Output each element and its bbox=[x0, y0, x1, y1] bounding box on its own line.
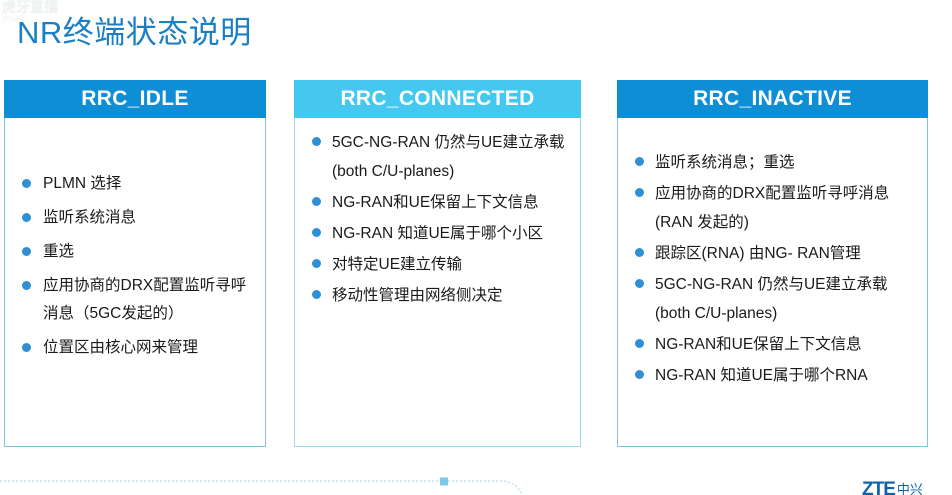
list-item: 5GC‐NG-RAN 仍然与UE建立承载 (both C/U-planes) bbox=[303, 128, 574, 186]
column-body-rrc-idle: PLMN 选择 监听系统消息 重选 应用协商的DRX配置监听寻呼消息（5GC发起… bbox=[4, 118, 266, 447]
list-item: 跟踪区(RNA) 由NG- RAN管理 bbox=[626, 239, 921, 268]
list-item: 应用协商的DRX配置监听寻呼消息(RAN 发起的) bbox=[626, 179, 921, 237]
bullet-list-rrc-idle: PLMN 选择 监听系统消息 重选 应用协商的DRX配置监听寻呼消息（5GC发起… bbox=[13, 170, 259, 362]
list-item: NG-RAN 知道UE属于哪个小区 bbox=[303, 219, 574, 248]
column-body-rrc-inactive: 监听系统消息；重选 应用协商的DRX配置监听寻呼消息(RAN 发起的) 跟踪区(… bbox=[617, 118, 928, 447]
column-header-rrc-connected: RRC_CONNECTED bbox=[294, 80, 581, 118]
decorative-curve bbox=[0, 462, 952, 495]
zte-logo-mark: ZTE bbox=[862, 480, 895, 495]
page-title: NR终端状态说明 bbox=[17, 7, 252, 52]
zte-logo-cn: 中兴 bbox=[897, 482, 923, 495]
list-item: 重选 bbox=[13, 238, 259, 266]
zte-logo: ZTE中兴 bbox=[862, 480, 952, 495]
slide-canvas: 虎牙直播 房间号 NR终端状态说明 RRC_IDLE PLMN 选择 监听系统消… bbox=[0, 0, 952, 495]
list-item: 监听系统消息；重选 bbox=[626, 148, 921, 177]
list-item: NG-RAN和UE保留上下文信息 bbox=[626, 330, 921, 359]
column-header-rrc-inactive: RRC_INACTIVE bbox=[617, 80, 928, 118]
list-item: 移动性管理由网络侧决定 bbox=[303, 281, 574, 310]
column-rrc-idle: RRC_IDLE PLMN 选择 监听系统消息 重选 应用协商的DRX配置监听寻… bbox=[4, 80, 266, 447]
list-item: 应用协商的DRX配置监听寻呼消息（5GC发起的） bbox=[13, 272, 259, 328]
list-item: 5GC‐NG-RAN 仍然与UE建立承载 (both C/U-planes) bbox=[626, 270, 921, 328]
list-item: NG-RAN和UE保留上下文信息 bbox=[303, 188, 574, 217]
list-item: 对特定UE建立传输 bbox=[303, 250, 574, 279]
list-item: 监听系统消息 bbox=[13, 204, 259, 232]
list-item: PLMN 选择 bbox=[13, 170, 259, 198]
bullet-list-rrc-inactive: 监听系统消息；重选 应用协商的DRX配置监听寻呼消息(RAN 发起的) 跟踪区(… bbox=[626, 148, 921, 390]
column-rrc-inactive: RRC_INACTIVE 监听系统消息；重选 应用协商的DRX配置监听寻呼消息(… bbox=[617, 80, 928, 447]
list-item: NG-RAN 知道UE属于哪个RNA bbox=[626, 361, 921, 390]
bullet-list-rrc-connected: 5GC‐NG-RAN 仍然与UE建立承载 (both C/U-planes) N… bbox=[303, 128, 574, 310]
column-header-rrc-idle: RRC_IDLE bbox=[4, 80, 266, 118]
column-rrc-connected: RRC_CONNECTED 5GC‐NG-RAN 仍然与UE建立承载 (both… bbox=[294, 80, 581, 447]
column-body-rrc-connected: 5GC‐NG-RAN 仍然与UE建立承载 (both C/U-planes) N… bbox=[294, 118, 581, 447]
list-item: 位置区由核心网来管理 bbox=[13, 334, 259, 362]
